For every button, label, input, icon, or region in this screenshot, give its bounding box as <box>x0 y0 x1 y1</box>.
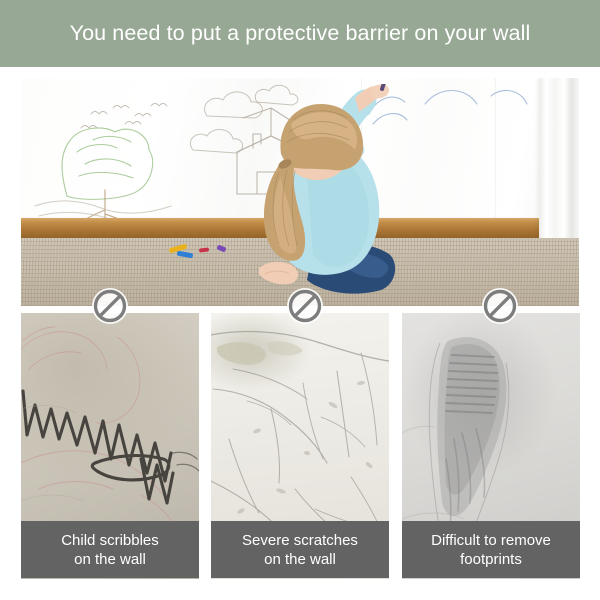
caption-line-2: on the wall <box>264 551 336 568</box>
caption-line-2: on the wall <box>74 551 146 568</box>
caption-line-2: footprints <box>460 551 522 568</box>
panel-caption-bar: Severe scratches on the wall <box>211 521 389 578</box>
prohibition-no-icon <box>481 287 519 325</box>
caption-line-1: Difficult to remove <box>431 532 551 549</box>
door-casing <box>539 78 579 264</box>
panel-severe-scratches[interactable]: Severe scratches on the wall <box>211 313 389 579</box>
caption-line-1: Severe scratches <box>242 532 358 549</box>
panel-difficult-footprints[interactable]: Difficult to remove footprints <box>402 313 580 579</box>
child-figure <box>221 84 411 299</box>
panel-caption-bar: Child scribbles on the wall <box>21 521 199 578</box>
header-banner: You need to put a protective barrier on … <box>0 0 600 67</box>
caption-line-1: Child scribbles <box>61 532 159 549</box>
prohibition-no-icon <box>91 287 129 325</box>
promo-graphic-page: You need to put a protective barrier on … <box>0 0 600 600</box>
hero-photo <box>21 78 579 306</box>
panel-caption-text: Severe scratches on the wall <box>242 531 358 569</box>
problem-panels-row: Child scribbles on the wall <box>21 313 579 579</box>
panel-child-scribbles[interactable]: Child scribbles on the wall <box>21 313 199 579</box>
panel-caption-text: Child scribbles on the wall <box>61 531 159 569</box>
prohibition-no-icon <box>286 287 324 325</box>
panel-caption-bar: Difficult to remove footprints <box>402 521 580 578</box>
page-title: You need to put a protective barrier on … <box>70 21 531 46</box>
panel-caption-text: Difficult to remove footprints <box>431 531 551 569</box>
